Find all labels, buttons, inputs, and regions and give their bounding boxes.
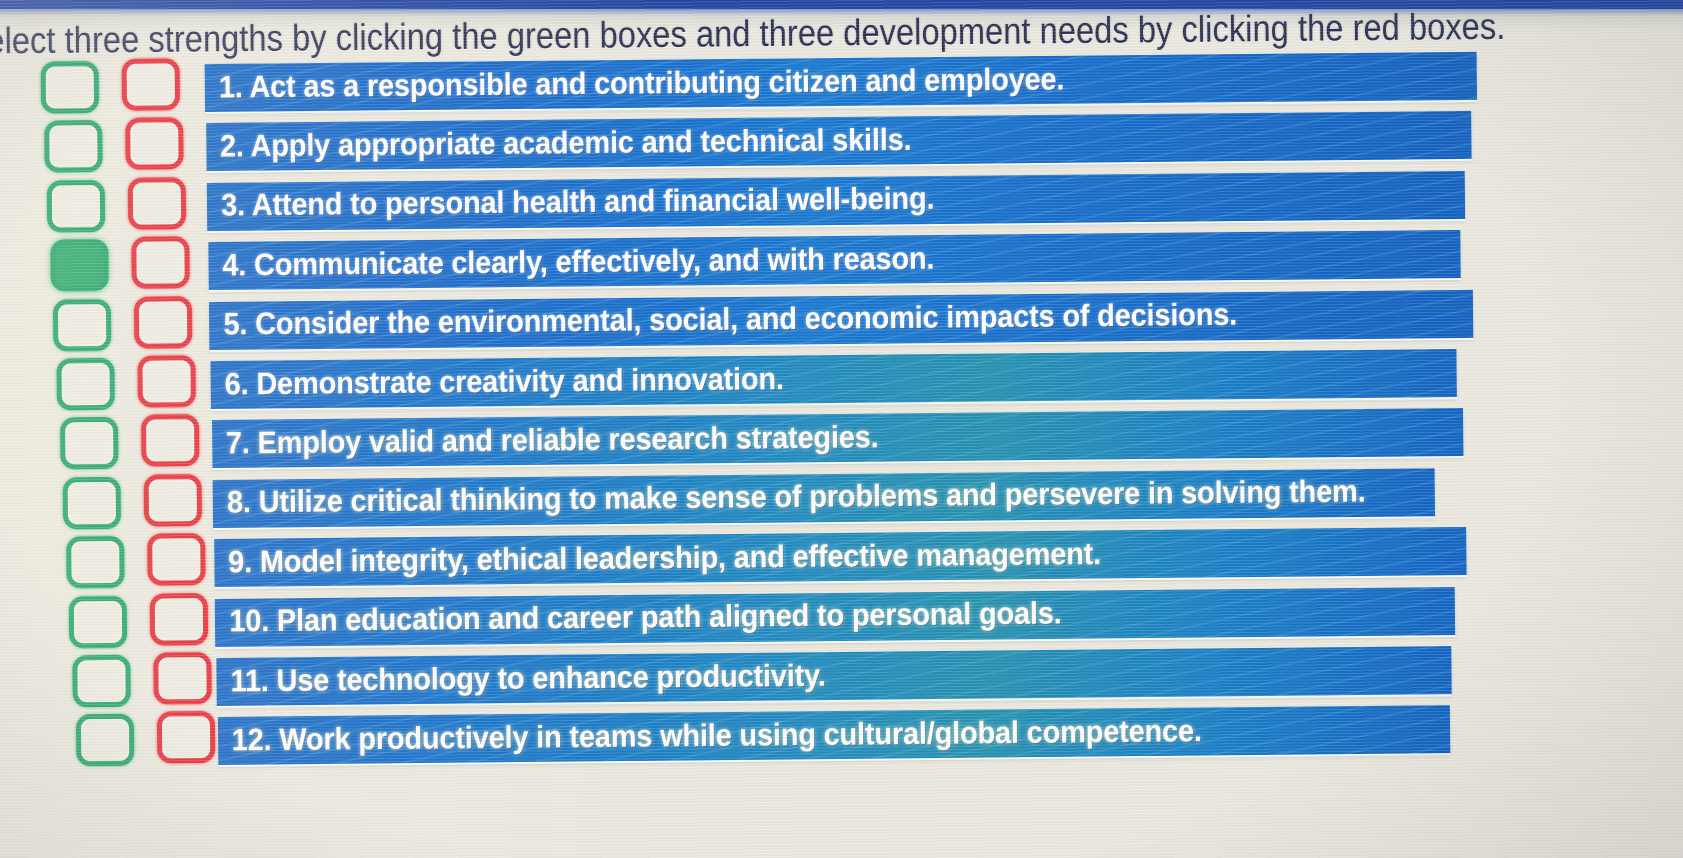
statement-row[interactable]: 8. Utilize critical thinking to make sen… [213, 468, 1435, 528]
statement-row[interactable]: 10. Plan education and career path align… [215, 587, 1455, 647]
statement-text: 10. Plan education and career path align… [215, 597, 1062, 640]
development-need-checkbox[interactable] [128, 177, 186, 230]
strength-checkbox[interactable] [53, 299, 111, 352]
development-need-checkbox[interactable] [131, 236, 189, 289]
development-need-checkbox[interactable] [147, 533, 205, 586]
statement-row[interactable]: 7. Employ valid and reliable research st… [212, 408, 1463, 468]
development-need-checkbox[interactable] [137, 355, 195, 408]
statement-row[interactable]: 3. Attend to personal health and financi… [207, 171, 1465, 231]
statement-text: 12. Work productively in teams while usi… [218, 714, 1202, 759]
statement-row[interactable]: 1. Act as a responsible and contributing… [205, 52, 1477, 112]
statement-row[interactable]: 9. Model integrity, ethical leadership, … [214, 527, 1466, 587]
statement-row[interactable]: 6. Demonstrate creativity and innovation… [210, 349, 1456, 409]
statement-row[interactable]: 11. Use technology to enhance productivi… [216, 646, 1451, 706]
statement-row[interactable]: 2. Apply appropriate academic and techni… [206, 111, 1471, 171]
development-need-checkbox[interactable] [122, 58, 180, 111]
strength-checkbox[interactable] [44, 120, 102, 173]
statement-text: 5. Consider the environmental, social, a… [209, 298, 1237, 343]
statement-row[interactable]: 4. Communicate clearly, effectively, and… [208, 230, 1460, 290]
statement-row[interactable]: 12. Work productively in teams while usi… [217, 706, 1449, 766]
strength-checkbox[interactable] [60, 417, 118, 470]
strength-checkbox[interactable] [66, 536, 124, 589]
development-need-checkbox[interactable] [134, 296, 192, 349]
statement-text: 4. Communicate clearly, effectively, and… [208, 242, 934, 284]
development-need-checkbox[interactable] [156, 711, 214, 764]
statement-text: 1. Act as a responsible and contributing… [205, 62, 1065, 106]
development-need-checkbox[interactable] [144, 474, 202, 527]
development-need-checkbox[interactable] [125, 118, 183, 171]
strength-checkbox[interactable] [69, 595, 127, 648]
strength-checkbox[interactable] [47, 180, 105, 233]
strength-checkbox[interactable] [75, 714, 133, 767]
strength-checkbox[interactable] [50, 239, 108, 292]
statement-row[interactable]: 5. Consider the environmental, social, a… [209, 289, 1473, 349]
statement-text: 7. Employ valid and reliable research st… [212, 420, 879, 462]
selection-page: elect three strengths by clicking the gr… [0, 0, 1683, 858]
strength-checkbox[interactable] [72, 655, 130, 708]
strength-checkbox[interactable] [63, 477, 121, 530]
development-need-checkbox[interactable] [141, 415, 199, 468]
development-need-checkbox[interactable] [153, 652, 211, 705]
statement-text: 2. Apply appropriate academic and techni… [206, 123, 912, 165]
strength-checkbox[interactable] [41, 61, 99, 114]
statement-text: 6. Demonstrate creativity and innovation… [211, 362, 784, 403]
strength-checkbox[interactable] [56, 358, 114, 411]
statement-text: 11. Use technology to enhance productivi… [216, 658, 825, 699]
statement-text: 8. Utilize critical thinking to make sen… [213, 475, 1366, 521]
statement-text: 3. Attend to personal health and financi… [207, 182, 935, 224]
statement-text: 9. Model integrity, ethical leadership, … [214, 537, 1101, 581]
development-need-checkbox[interactable] [150, 593, 208, 646]
